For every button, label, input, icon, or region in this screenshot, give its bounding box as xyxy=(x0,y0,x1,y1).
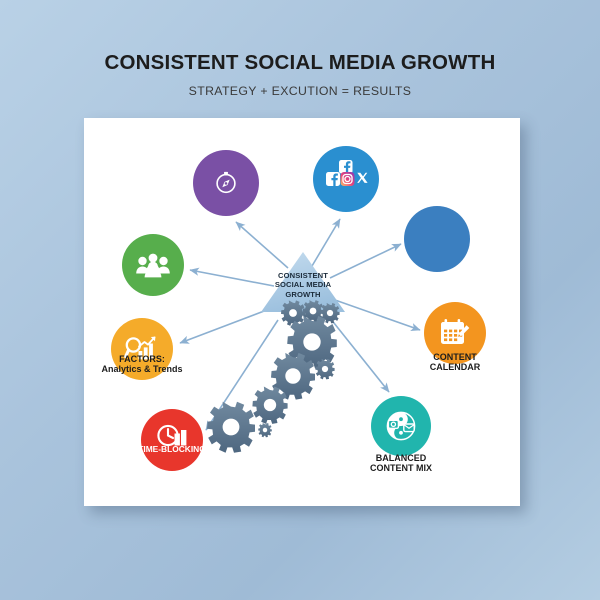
node-time-blocking-label: TIME-BLOCKING xyxy=(130,445,214,454)
node-balanced-content-mix[interactable] xyxy=(371,396,431,456)
node-purpose[interactable]: PURPOSE xyxy=(193,150,259,216)
yin-yang-media-icon xyxy=(384,409,418,443)
header: CONSISTENT SOCIAL MEDIA GROWTH STRATEGY … xyxy=(0,52,600,98)
node-factors-label: FACTORS: Analytics & Trends xyxy=(86,354,198,374)
factors-label-line1: FACTORS: xyxy=(119,354,165,364)
center-label-line2: SOCIAL MEDIA xyxy=(255,280,351,289)
calendar-label-line2: CALENDAR xyxy=(409,362,501,372)
node-balanced-content-mix-label: BALANCED CONTENT MIX xyxy=(351,453,451,473)
people-group-icon xyxy=(135,251,171,279)
balanced-label-line1: BALANCED xyxy=(376,453,427,463)
calendar-label-line1: CONTENT xyxy=(433,352,477,362)
page-title: CONSISTENT SOCIAL MEDIA GROWTH xyxy=(0,52,600,75)
page-subtitle: STRATEGY + EXCUTION = RESULTS xyxy=(0,84,600,98)
node-core-platforms[interactable]: CORE PLATFORMS xyxy=(404,206,470,272)
node-audience[interactable] xyxy=(122,234,184,296)
center-label: CONSISTENT SOCIAL MEDIA GROWTH xyxy=(255,271,351,299)
node-time-blocking[interactable] xyxy=(141,409,203,471)
balanced-label-line2: CONTENT MIX xyxy=(351,463,451,473)
social-logos-icon xyxy=(322,159,370,199)
node-social-platforms[interactable] xyxy=(313,146,379,212)
infographic-stage: CONSISTENT SOCIAL MEDIA GROWTH STRATEGY … xyxy=(0,0,600,600)
center-label-line3: GROWTH xyxy=(255,290,351,299)
node-content-calendar-label: CONTENT CALENDAR xyxy=(409,352,501,372)
compass-icon xyxy=(213,170,239,196)
center-label-line1: CONSISTENT xyxy=(255,271,351,280)
factors-label-line2: Analytics & Trends xyxy=(86,364,198,374)
calendar-pencil-icon xyxy=(438,317,472,349)
